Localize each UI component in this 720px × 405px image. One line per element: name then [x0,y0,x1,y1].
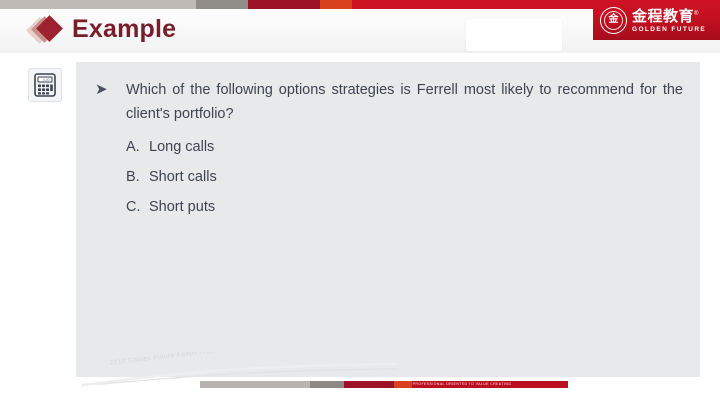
segment-orange-red [320,0,352,9]
bar-segment-dark-red [344,381,394,388]
option-letter: B. [126,162,149,192]
segment-light-gray [0,0,196,9]
calculator-icon[interactable]: 0.00 [28,68,62,102]
bar-segment-gray [310,381,344,388]
bar-segment-red-end [512,381,568,388]
bar-segment-orange-red [394,381,412,388]
bullet-arrow-icon: ➤ [95,80,109,100]
option-label: Short calls [149,162,217,192]
segment-dark-red [248,0,320,9]
option-label: Short puts [149,192,215,222]
blank-placeholder-card [466,19,562,51]
footer-tagline-text: PROFESSIONAL ORIENTED TO VALUE CREATING [413,383,512,387]
svg-text:0.00: 0.00 [43,78,50,82]
diamond-icon [30,17,64,45]
question-text: Which of the following options strategie… [126,78,683,126]
segment-gray [196,0,248,9]
brand-logo: 金 金程教育® GOLDEN FUTURE [593,0,720,40]
list-item[interactable]: C. Short puts [126,192,217,222]
logo-text-group: 金程教育® GOLDEN FUTURE [632,6,706,34]
options-list: A. Long calls B. Short calls C. Short pu… [126,132,217,222]
logo-chinese-text: 金程教育 [632,8,694,25]
question-panel: ➤ Which of the following options strateg… [76,62,700,377]
option-letter: A. [126,132,149,162]
bar-segment-red-tagline: PROFESSIONAL ORIENTED TO VALUE CREATING [412,381,512,388]
logo-chinese-name: 金程教育® [632,6,706,25]
option-letter: C. [126,192,149,222]
bar-segment-light-gray [200,381,310,388]
option-label: Long calls [149,132,214,162]
list-item[interactable]: A. Long calls [126,132,217,162]
list-item[interactable]: B. Short calls [126,162,217,192]
page-title: Example [72,14,176,44]
logo-seal-icon: 金 [600,7,627,34]
bottom-accent-bar: PROFESSIONAL ORIENTED TO VALUE CREATING [200,381,568,388]
logo-english-name: GOLDEN FUTURE [632,25,706,34]
question-block: ➤ Which of the following options strateg… [95,78,683,126]
calculator-icon-svg: 0.00 [34,73,56,97]
logo-registered-mark: ® [694,11,699,17]
logo-seal-glyph: 金 [609,15,619,25]
logo-seal-inner: 金 [604,11,623,30]
